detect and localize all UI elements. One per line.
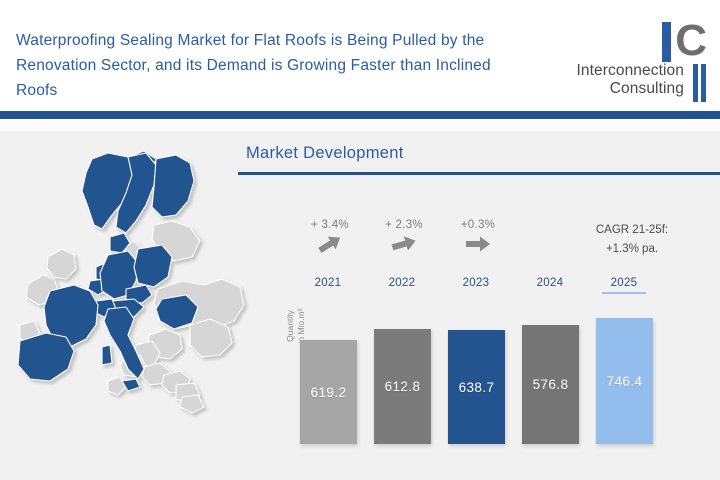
logo-line-2: Consulting [577, 80, 685, 98]
bar-2025[interactable]: 746.4 [596, 318, 653, 444]
logo-wordmark: Interconnection Consulting [577, 62, 685, 98]
arrow-up-right-shallow-icon [368, 235, 440, 253]
bar-2024[interactable]: 576.8 [522, 325, 579, 444]
cagr-annotation: CAGR 21-25f: +1.3% pa. [544, 221, 720, 259]
x-label-2024: 2024 [514, 277, 586, 289]
bar-value-2023: 638.7 [459, 380, 495, 395]
growth-label-1: + 3.4% [294, 219, 366, 231]
logo-accent-bar-1 [693, 64, 698, 102]
market-development-chart: Quantity in Mio.m² + 3.4% + 2.3% +0.3% [248, 219, 720, 459]
growth-label-2: + 2.3% [368, 219, 440, 231]
content-stage: Market Development Quantity in Mio.m² + … [0, 119, 720, 480]
growth-annotation-2023-2024: +0.3% [442, 219, 514, 253]
logo-mark: C [662, 22, 706, 64]
growth-annotation-2022-2023: + 2.3% [368, 219, 440, 253]
growth-annotations: + 3.4% + 2.3% +0.3% [248, 219, 720, 269]
x-label-2021: 2021 [292, 277, 364, 289]
bar-value-2021: 619.2 [311, 385, 347, 400]
europe-map-svg [4, 129, 254, 469]
bar-value-2025: 746.4 [607, 374, 643, 389]
x-axis-labels: 2021 2022 2023 2024 2025 [248, 277, 720, 299]
bar-2023[interactable]: 638.7 [448, 330, 505, 444]
bar-value-2024: 576.8 [533, 377, 569, 392]
panel-divider [238, 172, 720, 175]
logo-accent-bar-2 [701, 64, 706, 102]
growth-label-3: +0.3% [442, 219, 514, 231]
x-label-2022: 2022 [366, 277, 438, 289]
arrow-right-icon [442, 235, 514, 253]
bar-2022[interactable]: 612.8 [374, 329, 431, 444]
growth-annotation-2021-2022: + 3.4% [294, 219, 366, 253]
europe-map [4, 129, 254, 469]
page-title: Waterproofing Sealing Market for Flat Ro… [16, 28, 516, 103]
bar-value-2022: 612.8 [385, 379, 421, 394]
logo-accent-bars [693, 64, 706, 102]
x-label-2025: 2025 [588, 277, 660, 294]
company-logo: C Interconnection Consulting [556, 22, 706, 102]
header-divider [0, 111, 720, 119]
bar-2021[interactable]: 619.2 [300, 340, 357, 444]
cagr-label: CAGR 21-25f: [544, 221, 720, 240]
cagr-value: +1.3% pa. [544, 240, 720, 259]
logo-letter-c: C [675, 22, 706, 60]
panel-title: Market Development [246, 144, 404, 163]
logo-letter-i [662, 22, 671, 62]
bar-series: 619.2 612.8 638.7 576.8 746.4 [248, 299, 720, 444]
arrow-up-right-icon [294, 235, 366, 253]
page-header: Waterproofing Sealing Market for Flat Ro… [0, 0, 720, 111]
logo-line-1: Interconnection [577, 62, 685, 80]
x-label-2023: 2023 [440, 277, 512, 289]
